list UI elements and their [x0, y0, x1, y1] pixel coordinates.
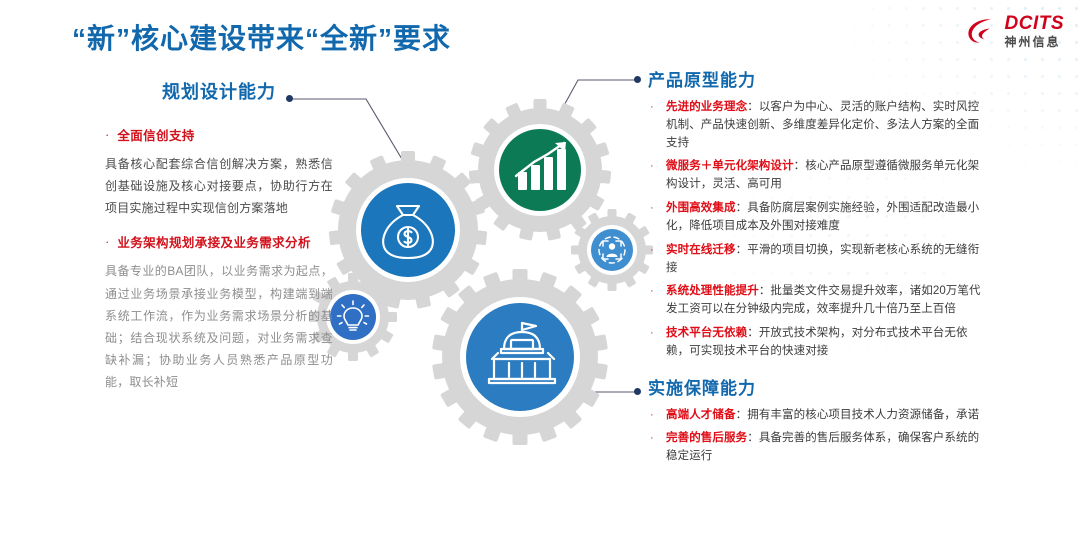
logo-text-cn: 神州信息	[1005, 36, 1065, 48]
list-item: · 全面信创支持	[105, 126, 333, 148]
list-item-text: 微服务＋单元化架构设计：核心产品原型遵循微服务单元化架构设计，灵活、高可用	[666, 158, 988, 194]
list-item-separator: ：	[747, 432, 759, 444]
list-item-separator: ：	[759, 285, 771, 297]
list-item-separator: ：	[747, 101, 759, 113]
left-content-column: 规划设计能力 · 全面信创支持 具备核心配套综合信创解决方案，熟悉信创基础设施及…	[105, 78, 333, 407]
logo-text-en: DCITS	[1005, 14, 1065, 33]
connector-anchor-product	[634, 76, 641, 83]
bullet-dot-icon: ·	[105, 126, 109, 148]
list-item-keyword: 微服务＋单元化架构设计	[666, 160, 794, 172]
list-item-keyword: 系统处理性能提升	[666, 285, 759, 297]
page-title: “新”核心建设带来“全新”要求	[72, 17, 451, 57]
list-item: ·微服务＋单元化架构设计：核心产品原型遵循微服务单元化架构设计，灵活、高可用	[648, 158, 988, 194]
bullet-dot-icon: ·	[648, 407, 659, 425]
list-item-separator: ：	[736, 202, 748, 214]
list-item: ·系统处理性能提升：批量类文件交易提升效率，诸如20万笔代发工资可以在分钟级内完…	[648, 283, 988, 319]
list-item-text: 完善的售后服务：具备完善的售后服务体系，确保客户系统的稳定运行	[666, 430, 988, 466]
list-item: ·完善的售后服务：具备完善的售后服务体系，确保客户系统的稳定运行	[648, 430, 988, 466]
right-section-one-list: ·先进的业务理念：以客户为中心、灵活的账户结构、实时风控机制、产品快速创新、多维…	[648, 99, 988, 361]
list-item-description: 拥有丰富的核心项目技术人力资源储备，承诺	[747, 409, 979, 421]
dcits-swirl-icon	[965, 14, 999, 48]
list-item-keyword: 外围高效集成	[666, 202, 736, 214]
list-item-keyword: 实时在线迁移	[666, 244, 736, 256]
list-item: ·实时在线迁移：平滑的项目切换，实现新老核心系统的无缝衔接	[648, 242, 988, 278]
list-item-text: 技术平台无依赖：开放式技术架构，对分布式技术平台无依赖，可实现技术平台的快速对接	[666, 325, 988, 361]
government-building-gear	[432, 269, 608, 445]
bullet-dot-icon: ·	[648, 430, 659, 466]
left-bullet-title: 全面信创支持	[117, 126, 194, 148]
left-bullet-title: 业务架构规划承接及业务需求分析	[117, 233, 311, 255]
list-item: · 业务架构规划承接及业务需求分析	[105, 233, 333, 255]
bullet-dot-icon: ·	[648, 325, 659, 361]
list-item-separator: ：	[747, 327, 759, 339]
list-item: ·先进的业务理念：以客户为中心、灵活的账户结构、实时风控机制、产品快速创新、多维…	[648, 99, 988, 152]
company-logo: DCITS 神州信息	[965, 14, 1065, 48]
right-content-column: 产品原型能力 ·先进的业务理念：以客户为中心、灵活的账户结构、实时风控机制、产品…	[648, 66, 988, 472]
bullet-dot-icon: ·	[105, 233, 109, 255]
list-item-separator: ：	[794, 160, 806, 172]
left-bullet-body: 具备专业的BA团队，以业务需求为起点，通过业务场景承接业务模型，构建端到端系统工…	[105, 260, 333, 393]
list-item: ·技术平台无依赖：开放式技术架构，对分布式技术平台无依赖，可实现技术平台的快速对…	[648, 325, 988, 361]
left-bullet-group-2: · 业务架构规划承接及业务需求分析 具备专业的BA团队，以业务需求为起点，通过业…	[105, 233, 333, 393]
bullet-dot-icon: ·	[648, 242, 659, 278]
gear-cluster-graphic	[300, 95, 660, 455]
list-item-keyword: 高端人才储备	[666, 409, 736, 421]
right-section-two-title: 实施保障能力	[648, 374, 988, 399]
left-bullet-group-1: · 全面信创支持 具备核心配套综合信创解决方案，熟悉信创基础设施及核心对接要点，…	[105, 126, 333, 219]
right-section-two-list: ·高端人才储备：拥有丰富的核心项目技术人力资源储备，承诺·完善的售后服务：具备完…	[648, 407, 988, 466]
list-item: ·高端人才储备：拥有丰富的核心项目技术人力资源储备，承诺	[648, 407, 988, 425]
list-item-text: 外围高效集成：具备防腐层案例实施经验，外围适配改造最小化，降低项目成本及外围对接…	[666, 200, 988, 236]
list-item-text: 高端人才储备：拥有丰富的核心项目技术人力资源储备，承诺	[666, 407, 979, 425]
list-item-keyword: 完善的售后服务	[666, 432, 747, 444]
list-item-keyword: 先进的业务理念	[666, 101, 747, 113]
bullet-dot-icon: ·	[648, 283, 659, 319]
list-item: ·外围高效集成：具备防腐层案例实施经验，外围适配改造最小化，降低项目成本及外围对…	[648, 200, 988, 236]
bullet-dot-icon: ·	[648, 158, 659, 194]
list-item-separator: ：	[736, 409, 748, 421]
list-item-text: 先进的业务理念：以客户为中心、灵活的账户结构、实时风控机制、产品快速创新、多维度…	[666, 99, 988, 152]
left-section-title: 规划设计能力	[105, 78, 333, 104]
bullet-dot-icon: ·	[648, 99, 659, 152]
list-item-text: 系统处理性能提升：批量类文件交易提升效率，诸如20万笔代发工资可以在分钟级内完成…	[666, 283, 988, 319]
list-item-text: 实时在线迁移：平滑的项目切换，实现新老核心系统的无缝衔接	[666, 242, 988, 278]
list-item-separator: ：	[736, 244, 748, 256]
bullet-dot-icon: ·	[648, 200, 659, 236]
left-bullet-body: 具备核心配套综合信创解决方案，熟悉信创基础设施及核心对接要点，协助行方在项目实施…	[105, 153, 333, 220]
right-section-one-title: 产品原型能力	[648, 66, 988, 91]
slide-canvas: “新”核心建设带来“全新”要求 DCITS 神州信息	[0, 0, 1080, 540]
list-item-keyword: 技术平台无依赖	[666, 327, 747, 339]
